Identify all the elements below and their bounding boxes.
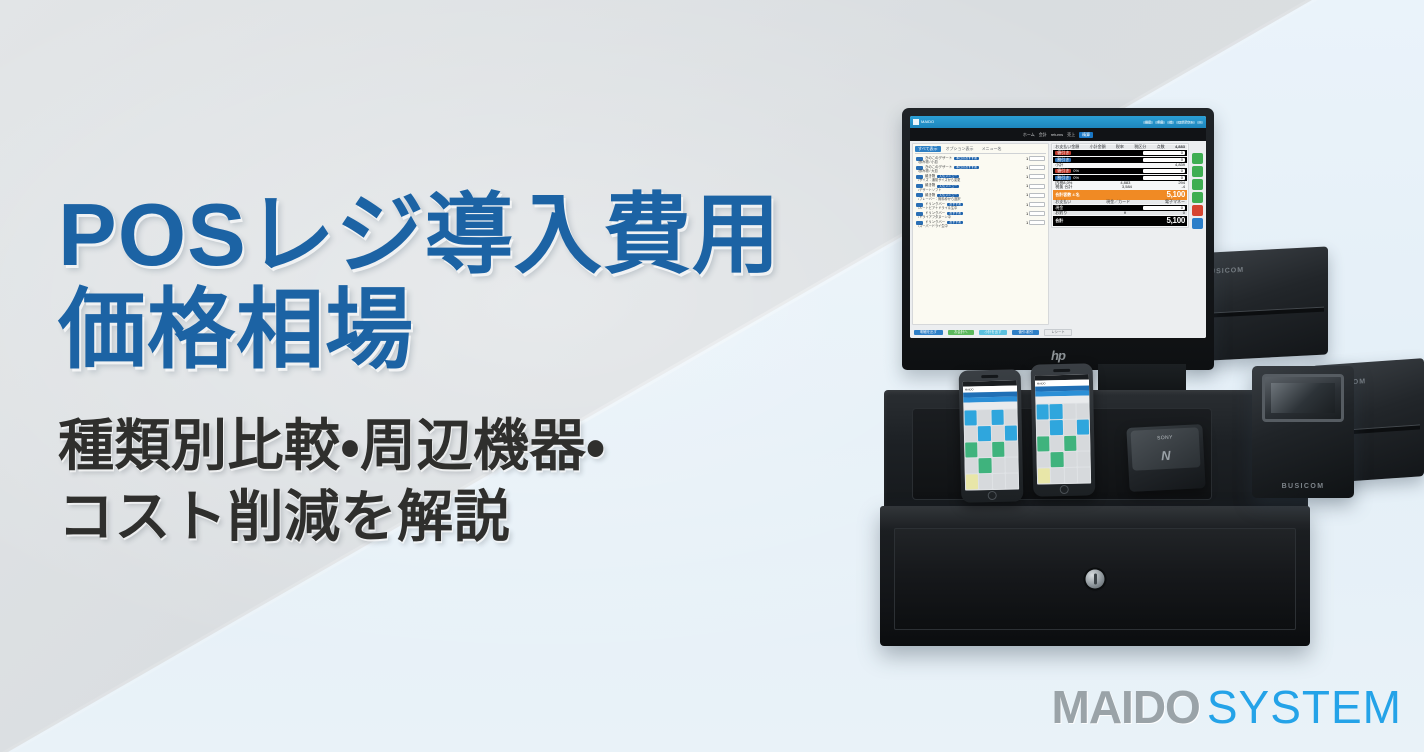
- item-price-field[interactable]: [1029, 202, 1045, 207]
- final-total-row: 合計 5,100: [1053, 216, 1187, 226]
- phone-menu-cell[interactable]: [1037, 420, 1050, 435]
- window-button-store[interactable]: 社: [1167, 121, 1174, 124]
- handheld-pos-phone-1[interactable]: MAIDO: [959, 369, 1024, 502]
- phone-menu-cell[interactable]: [1051, 452, 1064, 467]
- phone-menu-cell[interactable]: [1004, 409, 1017, 424]
- page-title-line-2: 価格相場: [58, 281, 781, 380]
- reduction-percent-value[interactable]: 0%: [1073, 176, 1079, 180]
- phone-menu-cell[interactable]: [1050, 420, 1063, 435]
- order-item-list: きのこのデザート 本日のおすすめ 1 ・飲み物 / 小皿: [915, 156, 1046, 322]
- discount-percent-amount[interactable]: 0: [1143, 169, 1185, 173]
- phone-menu-cell[interactable]: [1077, 435, 1090, 450]
- nfc-mark-icon: N: [1161, 448, 1171, 463]
- subtotal-amount: 4,839: [1175, 163, 1185, 167]
- payment-header-col-taxtype: 税区分: [1134, 145, 1146, 149]
- scanner-brand-label: BUSICOM: [1282, 483, 1325, 490]
- order-item-panel: すべて表示 オプション表示 メニュー名 きのこのデザート 本日のおすすめ: [912, 143, 1049, 325]
- phone-menu-cell[interactable]: [1077, 451, 1090, 466]
- phone-earpiece-icon: [981, 375, 998, 378]
- change-amount: 0: [1183, 211, 1185, 215]
- pos-hardware-group: BUSICOM BUSICOM MAIDO 設定 年度 社: [860, 108, 1424, 668]
- grand-total-amount: 5,100: [1166, 191, 1185, 199]
- phone-menu-cell[interactable]: [1077, 419, 1090, 434]
- item-price-field[interactable]: [1029, 184, 1045, 189]
- phone-menu-cell[interactable]: [991, 410, 1004, 425]
- item-subtext: ・飲み物 / 大皿: [915, 170, 1046, 173]
- phone-menu-cell[interactable]: [964, 410, 977, 425]
- pos-brand-label: MAIDO: [921, 120, 934, 124]
- item-quantity[interactable]: 1: [1026, 211, 1045, 216]
- subtotal-label: 小計: [1055, 163, 1063, 167]
- phone-menu-cell[interactable]: [1005, 441, 1018, 456]
- item-price-field[interactable]: [1029, 156, 1045, 161]
- scanner-window: [1262, 374, 1344, 422]
- quick-action-1-button[interactable]: [1192, 153, 1203, 164]
- phone-app-screen[interactable]: MAIDO: [1035, 374, 1091, 484]
- phone-menu-grid[interactable]: [963, 408, 1019, 490]
- phone-menu-cell[interactable]: [991, 426, 1004, 441]
- subtitle-line-1: 種類別比較・周辺機器・: [58, 411, 781, 482]
- quick-action-2-button[interactable]: [1192, 166, 1203, 177]
- cash-drawer[interactable]: [880, 506, 1310, 646]
- tab-show-options[interactable]: オプション表示: [943, 146, 977, 152]
- item-subtext: ・ドライアフタヌーン中: [915, 216, 1046, 219]
- item-price-field[interactable]: [1029, 211, 1045, 216]
- phone-earpiece-icon: [1053, 369, 1070, 372]
- list-item[interactable]: きのこのデザート 本日のおすすめ 1 ・飲み物 / 大皿: [915, 165, 1046, 173]
- receipt-button[interactable]: レシート: [1044, 329, 1072, 336]
- register-deck: [884, 390, 1308, 518]
- phone-app-screen[interactable]: MAIDO: [963, 380, 1019, 490]
- change-label: お釣り: [1055, 211, 1067, 215]
- phone-menu-cell[interactable]: [1006, 473, 1019, 488]
- payment-header-title: お支払い金額: [1055, 145, 1079, 149]
- item-qty-value: 1: [1026, 221, 1028, 225]
- phone-menu-cell[interactable]: [1064, 436, 1077, 451]
- item-qty-value: 1: [1026, 184, 1028, 188]
- quick-action-confirm-button[interactable]: [1192, 218, 1203, 229]
- phone-menu-cell[interactable]: [978, 426, 991, 441]
- subtotal-row: 小計 4,839: [1053, 163, 1187, 167]
- print-detail-button[interactable]: 明細を出す: [914, 330, 943, 335]
- item-qty-value: 1: [1026, 193, 1028, 197]
- nfc-brand-label: SONY: [1157, 435, 1173, 442]
- subtotal-button[interactable]: 小計を出す: [979, 330, 1008, 335]
- phone-menu-cell[interactable]: [1064, 452, 1077, 467]
- phone-menu-cell[interactable]: [1063, 420, 1076, 435]
- item-quantity[interactable]: 1: [1026, 184, 1045, 189]
- phone-menu-cell[interactable]: [979, 474, 992, 489]
- order-tabs[interactable]: すべて表示 オプション表示 メニュー名: [915, 146, 1046, 154]
- final-total-amount: 5,100: [1166, 217, 1185, 225]
- item-qty-value: 1: [1026, 203, 1028, 207]
- payment-method-tabs[interactable]: お支払い 現金／カード 電子マネー: [1053, 200, 1187, 204]
- list-item[interactable]: 焼き物 人気メニュー 1 ・デザートソフト: [915, 184, 1046, 192]
- item-subtext: ・ルートビア＋ドライ＆生中: [915, 207, 1046, 210]
- quick-action-delete-button[interactable]: [1192, 205, 1203, 216]
- nfc-reader-surface[interactable]: SONY N: [1131, 427, 1201, 471]
- item-quantity[interactable]: 1: [1026, 174, 1045, 179]
- phone-menu-cell[interactable]: [992, 474, 1005, 489]
- pos-brand: MAIDO: [913, 119, 934, 125]
- phone-menu-cell[interactable]: [978, 442, 991, 457]
- phone-home-button-icon[interactable]: [988, 491, 997, 500]
- close-icon[interactable]: ×: [1197, 121, 1203, 124]
- nav-item-sales[interactable]: 売上: [1067, 133, 1075, 137]
- grand-total-note: 客数 4 名: [1063, 193, 1079, 197]
- item-qty-value: 1: [1026, 157, 1028, 161]
- tax-excluded-row: 税抜 合計 3,584 -4: [1053, 185, 1187, 189]
- phone-menu-cell[interactable]: [1063, 404, 1076, 419]
- item-qty-value: 1: [1026, 212, 1028, 216]
- logo-secondary-text: SYSTEM: [1207, 680, 1402, 734]
- nav-item-accounting[interactable]: 会計: [1039, 133, 1047, 137]
- discount-button[interactable]: 値引・割引: [1012, 330, 1039, 335]
- currency-symbol-icon: ¥: [1124, 211, 1126, 215]
- nav-item-settlement[interactable]: 精算: [1079, 132, 1093, 138]
- checkout-button[interactable]: お会計へ: [948, 330, 974, 335]
- nav-item-returns[interactable]: returns: [1051, 133, 1063, 137]
- phone-menu-cell[interactable]: [1037, 436, 1050, 451]
- item-subtext: ・スーパードライ生中: [915, 225, 1046, 228]
- phone-menu-cell[interactable]: [979, 458, 992, 473]
- pos-title-bar: MAIDO 設定 年度 社 ログアウト ×: [910, 116, 1206, 128]
- pos-body: すべて表示 オプション表示 メニュー名 きのこのデザート 本日のおすすめ: [910, 141, 1206, 327]
- phone-menu-cell[interactable]: [1050, 404, 1063, 419]
- item-quantity[interactable]: 1: [1026, 165, 1045, 170]
- list-item[interactable]: ドリンクバー おすすめ 1 ・ルートビア＋ドライ＆生中: [915, 202, 1046, 210]
- phone-menu-cell[interactable]: [992, 458, 1005, 473]
- payment-header-col-subtotal: 小計金額: [1090, 145, 1106, 149]
- item-price-field[interactable]: [1029, 174, 1045, 179]
- payment-card: お支払い金額 小計金額 税率 税区分 点数 4,883 値引き 0: [1051, 143, 1189, 228]
- list-item[interactable]: きのこのデザート 本日のおすすめ 1 ・飲み物 / 小皿: [915, 156, 1046, 164]
- phone-menu-cell[interactable]: [1051, 468, 1064, 483]
- lock-icon[interactable]: [1086, 569, 1105, 588]
- window-button-year[interactable]: 年度: [1155, 121, 1165, 124]
- item-subtext: ・フレーバー：無料枠から選択: [915, 198, 1046, 201]
- item-subtext: ・飲み物 / 小皿: [915, 161, 1046, 164]
- quick-action-button-strip[interactable]: [1191, 143, 1204, 325]
- phone-menu-cell[interactable]: [1005, 457, 1018, 472]
- phone-menu-cell[interactable]: [1076, 403, 1089, 418]
- payment-header-amount: 4,883: [1175, 145, 1185, 149]
- discount-label: 値引き: [1055, 151, 1071, 155]
- phone-menu-cell[interactable]: [1078, 467, 1091, 482]
- subtitle-block: 種類別比較・周辺機器・ コスト削減を解説: [58, 411, 781, 552]
- payment-header: お支払い金額 小計金額 税率 税区分 点数 4,883: [1053, 145, 1187, 149]
- nav-item-home[interactable]: ホーム: [1023, 133, 1035, 137]
- pos-footer-buttons[interactable]: 明細を出す お会計へ 小計を出す 値引・割引 レシート: [910, 327, 1206, 338]
- discount-percent-label: 値引き: [1055, 169, 1071, 173]
- discount-amount-field[interactable]: 0: [1143, 151, 1185, 155]
- tab-payment[interactable]: お支払い: [1055, 200, 1071, 204]
- barcode-scanner[interactable]: BUSICOM: [1252, 366, 1354, 498]
- tab-menu-name[interactable]: メニュー名: [979, 146, 1005, 152]
- phone-menu-cell[interactable]: [1037, 452, 1050, 467]
- hero-banner: BUSICOM BUSICOM MAIDO 設定 年度 社: [0, 0, 1424, 752]
- app-logo-icon: [913, 119, 919, 125]
- item-quantity[interactable]: 1: [1026, 156, 1045, 161]
- item-price-field[interactable]: [1029, 220, 1045, 225]
- phone-menu-cell[interactable]: [978, 410, 991, 425]
- scanner-glass: [1271, 383, 1335, 413]
- page-title-line-1: POSレジ導入費用: [58, 186, 781, 285]
- tab-emoney[interactable]: 電子マネー: [1165, 200, 1185, 204]
- phone-menu-cell[interactable]: [965, 458, 978, 473]
- tab-cash-card[interactable]: 現金／カード: [1106, 200, 1130, 204]
- quick-action-4-button[interactable]: [1192, 192, 1203, 203]
- window-button-settings[interactable]: 設定: [1143, 121, 1153, 124]
- logo-primary-text: MAIDO: [1052, 680, 1200, 734]
- discount-row-amount[interactable]: 値引き 0: [1053, 150, 1187, 156]
- company-logo: MAIDO SYSTEM: [1052, 680, 1402, 734]
- list-item[interactable]: ドリンクバー おすすめ 1 ・ドライアフタヌーン中: [915, 211, 1046, 219]
- item-quantity[interactable]: 1: [1026, 220, 1045, 225]
- cash-input-field[interactable]: 0: [1143, 206, 1185, 210]
- window-button-logout[interactable]: ログアウト: [1176, 121, 1195, 124]
- headline-block: POSレジ導入費用 価格相場 種類別比較・周辺機器・ コスト削減を解説: [58, 186, 781, 552]
- item-qty-value: 1: [1026, 166, 1028, 170]
- phone-menu-cell[interactable]: [1036, 404, 1049, 419]
- item-price-field[interactable]: [1029, 165, 1045, 170]
- payment-panel: お支払い金額 小計金額 税率 税区分 点数 4,883 値引き 0: [1051, 143, 1189, 325]
- discount-percent-value[interactable]: 0%: [1073, 169, 1079, 173]
- item-badge: 本日のおすすめ: [954, 166, 979, 169]
- item-price-field[interactable]: [1029, 193, 1045, 198]
- payment-header-col-taxrate: 税率: [1116, 145, 1124, 149]
- tax-excluded-mid: 3,584: [1122, 185, 1132, 189]
- phone-menu-cell[interactable]: [966, 474, 979, 489]
- handheld-pos-phone-2[interactable]: MAIDO: [1031, 363, 1096, 496]
- nfc-card-reader[interactable]: SONY N: [1126, 424, 1205, 492]
- phone-menu-grid[interactable]: [1035, 402, 1091, 484]
- discount-row-percent[interactable]: 値引き 0% 0: [1053, 168, 1187, 174]
- item-badge: おすすめ: [947, 221, 963, 224]
- tax-excluded-right: -4: [1181, 185, 1185, 189]
- subtitle-line-2: コスト削減を解説: [58, 482, 781, 553]
- phone-menu-cell[interactable]: [965, 426, 978, 441]
- final-total-label: 合計: [1055, 219, 1063, 223]
- payment-header-col-count: 点数: [1157, 145, 1165, 149]
- tax-excluded-label: 税抜 合計: [1055, 185, 1072, 189]
- pos-monitor: MAIDO 設定 年度 社 ログアウト × ホーム 会計 returns 売上: [902, 108, 1214, 370]
- pos-application-screen[interactable]: MAIDO 設定 年度 社 ログアウト × ホーム 会計 returns 売上: [910, 116, 1206, 338]
- list-item[interactable]: 焼き物 人気メニュー 1 ・サイズ：通常サイズから変更: [915, 174, 1046, 182]
- pos-nav-bar[interactable]: ホーム 会計 returns 売上 精算: [910, 128, 1206, 141]
- item-badge: 本日のおすすめ: [954, 157, 979, 160]
- phone-menu-cell[interactable]: [965, 442, 978, 457]
- change-row: お釣り ¥ 0: [1053, 211, 1187, 215]
- tab-show-all[interactable]: すべて表示: [915, 146, 941, 152]
- monitor-brand-logo: hp: [1051, 348, 1065, 363]
- list-item[interactable]: ドリンクバー おすすめ 1 ・スーパードライ生中: [915, 220, 1046, 228]
- phone-home-button-icon[interactable]: [1060, 485, 1069, 494]
- item-quantity[interactable]: 1: [1026, 193, 1045, 198]
- phone-menu-cell[interactable]: [1050, 436, 1063, 451]
- phone-menu-cell[interactable]: [1005, 425, 1018, 440]
- phone-menu-cell[interactable]: [992, 442, 1005, 457]
- list-item[interactable]: 焼き物 人気メニュー 1 ・フレーバー：無料枠から選択: [915, 193, 1046, 201]
- item-quantity[interactable]: 1: [1026, 202, 1045, 207]
- quick-action-3-button[interactable]: [1192, 179, 1203, 190]
- phone-menu-cell[interactable]: [1064, 468, 1077, 483]
- window-buttons[interactable]: 設定 年度 社 ログアウト ×: [1143, 121, 1203, 124]
- item-qty-value: 1: [1026, 175, 1028, 179]
- phone-menu-cell[interactable]: [1038, 468, 1051, 483]
